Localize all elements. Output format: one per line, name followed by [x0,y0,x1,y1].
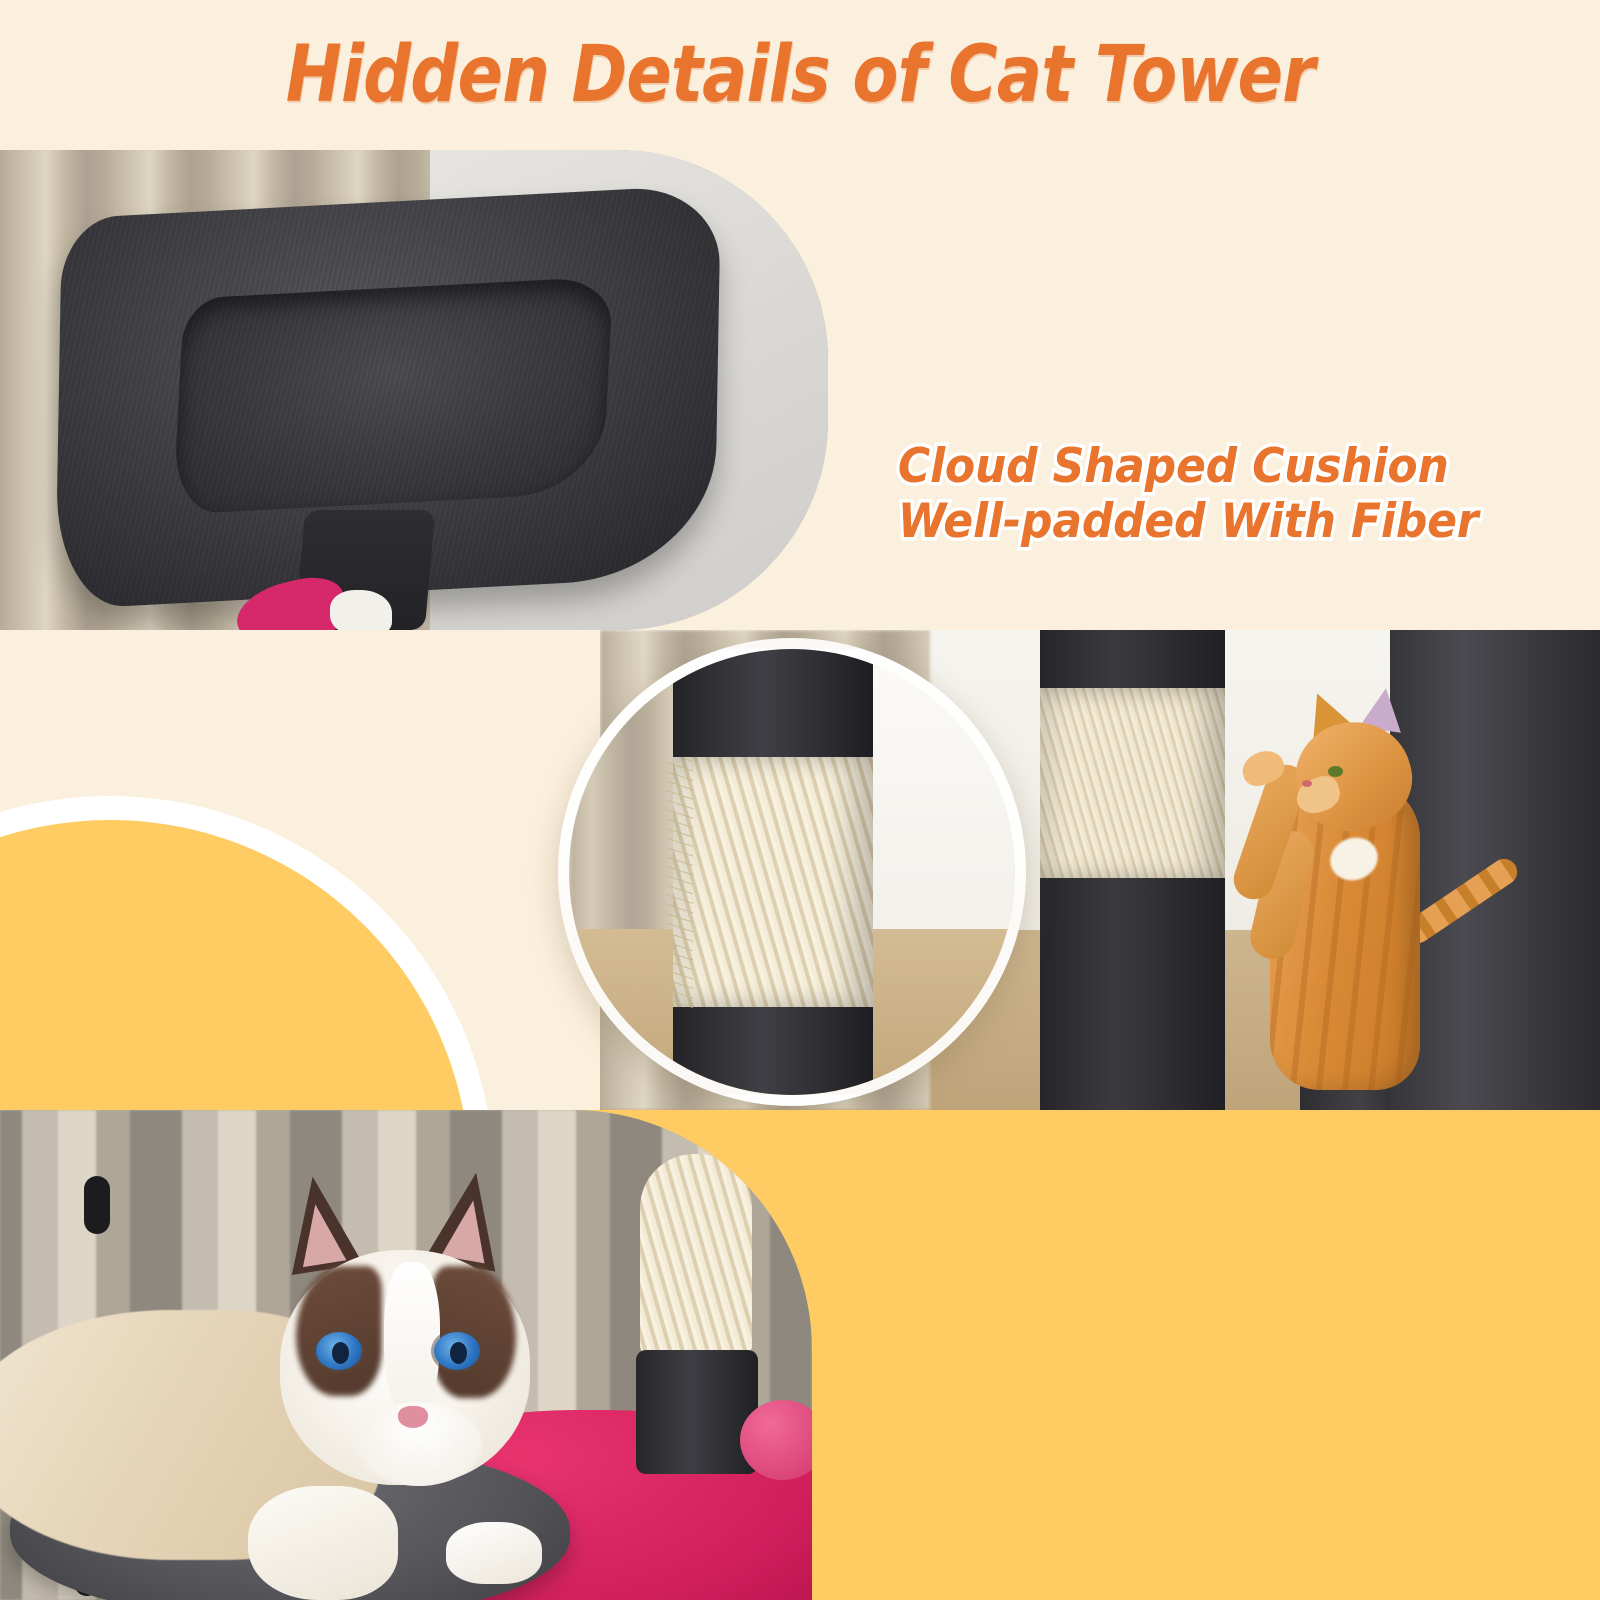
sisal-peek [330,590,392,630]
caption-cushion-line2: Well-padded With Fiber [898,495,1478,550]
ragdoll-paw [446,1522,542,1584]
section-sisal: Natural Sisal Natural Sisal Cat Scratchi… [0,630,1600,1110]
ragdoll-ear-inner-left [294,1201,347,1267]
infographic-page: Hidden Details of Cat Tower Cloud Shaped… [0,0,1600,1600]
plush-photo [0,1110,812,1600]
cat-eye [1328,766,1343,777]
post-plush-top [673,639,873,757]
post-plush-section [636,1350,758,1474]
page-header: Hidden Details of Cat Tower [0,0,1600,150]
ragdoll-cat [0,1170,600,1600]
fur-texture-inner [173,276,614,514]
ragdoll-nose [398,1406,428,1428]
sisal-loose-fibers [667,759,693,1009]
scratching-post [1040,630,1225,1110]
cat-nose [1302,780,1312,787]
ragdoll-face-blaze [384,1262,440,1422]
sisal-magnifier-inset [558,638,1026,1106]
ragdoll-pupil-left [332,1342,349,1364]
caption-line-1: Cloud Shaped Cushion Cloud Shaped Cushio… [898,440,1522,495]
caption-cushion: Cloud Shaped Cushion Cloud Shaped Cushio… [898,440,1522,549]
post-sisal-band [673,757,873,1007]
caption-cushion-line1: Cloud Shaped Cushion [898,440,1449,495]
ragdoll-mask-right [432,1266,516,1398]
section-cushion: Cloud Shaped Cushion Cloud Shaped Cushio… [0,150,1600,630]
magnifier-post [673,639,873,1106]
post-plush-bottom [673,1007,873,1106]
page-title: Hidden Details of Cat Tower [286,30,1315,120]
sisal-post-lower [640,1154,752,1454]
caption-line-2: Well-padded With Fiber Well-padded With … [898,495,1522,550]
ragdoll-leg [248,1486,398,1600]
post-sisal-section [640,1154,752,1354]
orange-tabby-cat [1200,670,1530,1110]
cushion-photo [0,150,828,630]
cushion-base [173,276,614,514]
section-plush: Soft High Quality Soft High Quality Plus… [0,1110,1600,1600]
ragdoll-pupil-right [450,1342,467,1364]
ragdoll-mask-left [296,1266,382,1396]
